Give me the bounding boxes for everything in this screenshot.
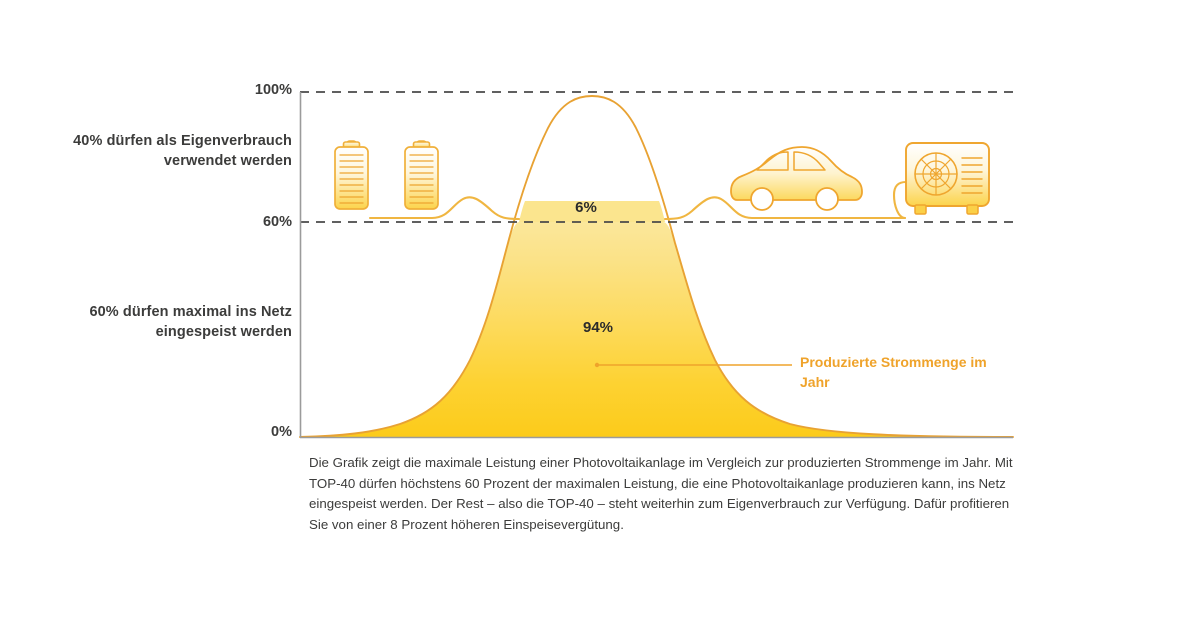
label-above-cap-percent: 6% [556, 199, 616, 216]
note-self-consumption: 40% dürfen als Eigenverbrauch verwendet … [60, 131, 292, 171]
y-tick-100: 100% [222, 82, 292, 98]
caption-text: Die Grafik zeigt die maximale Leistung e… [309, 453, 1019, 535]
heat-pump-icon [906, 143, 989, 214]
battery-icon-1 [335, 141, 368, 209]
battery-icon-2 [405, 141, 438, 209]
y-tick-0: 0% [222, 424, 292, 440]
electric-car-icon [731, 147, 862, 210]
note-feed-in-limit: 60% dürfen maximal ins Netz eingespeist … [40, 302, 292, 342]
label-below-cap-percent: 94% [568, 319, 628, 336]
y-tick-60: 60% [222, 214, 292, 230]
area-below-cap [300, 222, 1013, 437]
infographic-root: 100% 60% 0% 40% dürfen als Eigenverbrauc… [0, 0, 1200, 640]
annotation-produced-energy: Produzierte Strommenge im Jahr [800, 353, 1000, 393]
